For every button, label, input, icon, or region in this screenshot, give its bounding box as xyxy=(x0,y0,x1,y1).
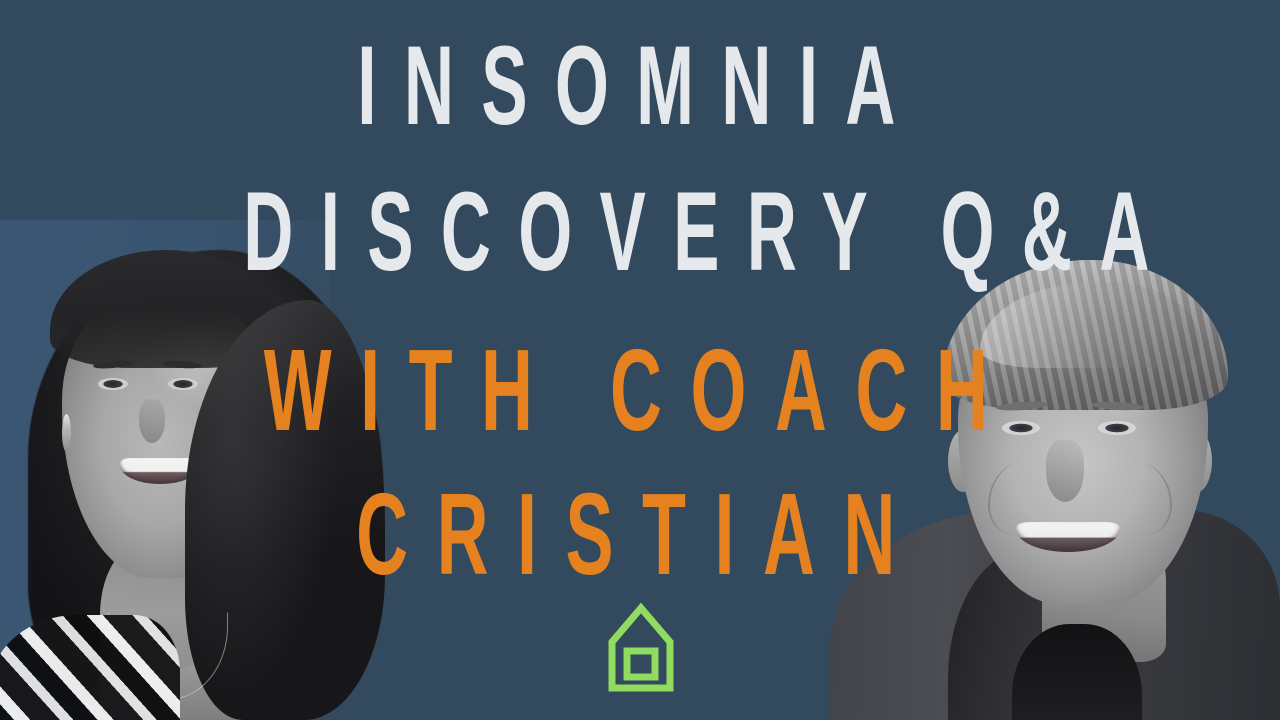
house-window-path xyxy=(627,651,655,677)
video-thumbnail: INSOMNIA DISCOVERY Q&A WITH COACH CRISTI… xyxy=(0,0,1280,720)
title-line-4: CRISTIAN xyxy=(243,476,1037,592)
title-line-1: INSOMNIA xyxy=(243,30,1037,142)
title-line-3: WITH COACH xyxy=(243,332,1037,448)
title-block: INSOMNIA DISCOVERY Q&A WITH COACH CRISTI… xyxy=(0,30,1280,592)
house-outline-icon-svg xyxy=(607,601,675,693)
house-outline-icon xyxy=(607,601,675,693)
woman-clothing xyxy=(0,615,180,720)
title-line-2: DISCOVERY Q&A xyxy=(243,176,1037,288)
